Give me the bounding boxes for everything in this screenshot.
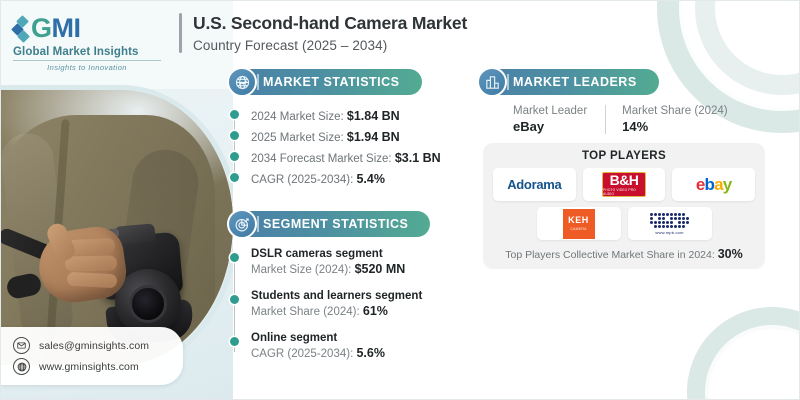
title-heading: U.S. Second-hand Camera Market	[193, 13, 467, 35]
bh-subtext: PHOTO VIDEO PRO AUDIO	[603, 188, 645, 196]
segment-value: 61%	[363, 304, 388, 318]
top-players-card: TOP PLAYERS Adorama B&H PHOTO VIDEO PRO …	[483, 143, 765, 269]
market-statistics-label: MARKET STATISTICS	[263, 75, 400, 89]
segment-name: DSLR cameras segment	[251, 248, 461, 260]
contact-email-text: sales@gminsights.com	[39, 340, 149, 352]
market-leader-summary: Market Leader eBay Market Share (2024) 1…	[513, 105, 771, 134]
page-title: U.S. Second-hand Camera Market Country F…	[179, 13, 467, 53]
collective-share-row: Top Players Collective Market Share in 2…	[493, 247, 755, 261]
market-stat-value: 5.4%	[356, 172, 385, 186]
market-leaders-column: MARKET LEADERS Market Leader eBay Market…	[479, 69, 771, 269]
decorative-arc-bottom-right-outer	[687, 307, 800, 400]
envelope-icon	[13, 337, 30, 354]
infographic-canvas: GMI Global Market Insights Insights to I…	[0, 0, 800, 400]
bh-wordmark: B&H	[610, 173, 639, 187]
market-stat-label: CAGR (2025-2034):	[251, 174, 353, 186]
mpb-url-text: www.mpb.com	[655, 230, 683, 235]
top-players-row-1: Adorama B&H PHOTO VIDEO PRO AUDIO ebay	[493, 168, 755, 201]
player-logo-ebay: ebay	[672, 168, 755, 201]
segment-name: Students and learners segment	[251, 290, 461, 302]
keh-logo-icon: KEH CAMERA	[563, 209, 595, 239]
photo-finger-3	[67, 272, 118, 289]
diamonds-icon	[13, 16, 28, 42]
market-stat-label: 2025 Market Size:	[251, 132, 344, 144]
segment-statistics-label: SEGMENT STATISTICS	[263, 217, 408, 231]
logo-company-name: Global Market Insights	[13, 46, 165, 58]
collective-share-value: 30%	[718, 247, 743, 261]
segment-name: Online segment	[251, 332, 461, 344]
adorama-wordmark: Adorama	[507, 177, 561, 192]
segment-statistics-list: DSLR cameras segment Market Size (2024):…	[229, 248, 461, 360]
segment-metric: Market Size (2024):	[251, 264, 351, 276]
pie-chart-target-icon	[227, 209, 257, 239]
segment-row: Online segment CAGR (2025-2034): 5.6%	[251, 332, 461, 360]
segment-value: $520 MN	[355, 262, 406, 276]
market-stat-row: 2024 Market Size: $1.84 BN	[251, 105, 461, 126]
market-stat-row: CAGR (2025-2034): 5.4%	[251, 168, 461, 189]
market-stat-value: $1.84 BN	[347, 109, 400, 123]
top-players-row-2: KEH CAMERA www.mpb.com	[493, 207, 755, 240]
decorative-arc-bottom-right-inner	[705, 325, 800, 400]
logo-wordmark: GMI	[31, 15, 81, 42]
market-stat-row: 2025 Market Size: $1.94 BN	[251, 126, 461, 147]
photo-finger-2	[65, 256, 117, 272]
market-leader-cell: Market Leader eBay	[513, 105, 605, 134]
podium-bar-chart-icon	[477, 67, 507, 97]
contact-card: sales@gminsights.com www.gminsights.com	[1, 327, 183, 385]
segment-metric: Market Share (2024):	[251, 306, 360, 318]
market-stat-value: $1.94 BN	[347, 130, 400, 144]
segment-statistics-header: SEGMENT STATISTICS	[229, 211, 430, 237]
mpb-logo-icon: www.mpb.com	[650, 213, 689, 235]
market-leaders-label: MARKET LEADERS	[513, 75, 637, 89]
market-share-label: Market Share (2024)	[622, 105, 727, 117]
globe-chart-icon	[227, 67, 257, 97]
top-players-title: TOP PLAYERS	[493, 150, 755, 162]
market-stat-label: 2024 Market Size:	[251, 111, 344, 123]
market-leaders-header: MARKET LEADERS	[479, 69, 659, 95]
market-share-cell: Market Share (2024) 14%	[605, 105, 745, 134]
contact-website-text: www.gminsights.com	[39, 361, 139, 373]
statistics-column: MARKET STATISTICS 2024 Market Size: $1.8…	[229, 69, 461, 360]
segment-metric: CAGR (2025-2034):	[251, 348, 353, 360]
segment-statistics-section: SEGMENT STATISTICS DSLR cameras segment …	[229, 211, 461, 360]
market-leader-value: eBay	[513, 119, 587, 134]
market-leader-label: Market Leader	[513, 105, 587, 117]
segment-row: Students and learners segment Market Sha…	[251, 290, 461, 332]
gmi-logo: GMI Global Market Insights Insights to I…	[13, 15, 165, 72]
mpb-dot-grid	[650, 213, 689, 228]
market-stat-row: 2034 Forecast Market Size: $3.1 BN	[251, 147, 461, 168]
market-statistics-header: MARKET STATISTICS	[229, 69, 422, 95]
bh-logo-icon: B&H PHOTO VIDEO PRO AUDIO	[602, 172, 646, 197]
player-logo-keh: KEH CAMERA	[537, 207, 621, 240]
contact-email-row[interactable]: sales@gminsights.com	[13, 335, 173, 356]
logo-divider	[13, 60, 161, 61]
market-stat-value: $3.1 BN	[395, 151, 441, 165]
market-stat-label: 2034 Forecast Market Size:	[251, 153, 392, 165]
market-share-value: 14%	[622, 119, 727, 134]
title-subheading: Country Forecast (2025 – 2034)	[193, 38, 467, 53]
collective-share-label: Top Players Collective Market Share in 2…	[505, 249, 715, 261]
segment-row: DSLR cameras segment Market Size (2024):…	[251, 248, 461, 290]
photographer-photo	[1, 89, 233, 365]
logo-tagline: Insights to Innovation	[13, 63, 161, 72]
globe-icon	[13, 358, 30, 375]
keh-wordmark: KEH	[568, 216, 589, 225]
market-statistics-list: 2024 Market Size: $1.84 BN 2025 Market S…	[229, 105, 461, 189]
player-logo-adorama: Adorama	[493, 168, 576, 201]
photo-lens-glass	[129, 285, 167, 323]
ebay-wordmark: ebay	[696, 175, 732, 195]
title-accent-bar	[179, 13, 182, 53]
contact-website-row[interactable]: www.gminsights.com	[13, 356, 173, 377]
segment-value: 5.6%	[356, 346, 385, 360]
keh-subtext: CAMERA	[570, 227, 586, 231]
player-logo-mpb: www.mpb.com	[628, 207, 712, 240]
player-logo-bh: B&H PHOTO VIDEO PRO AUDIO	[583, 168, 666, 201]
